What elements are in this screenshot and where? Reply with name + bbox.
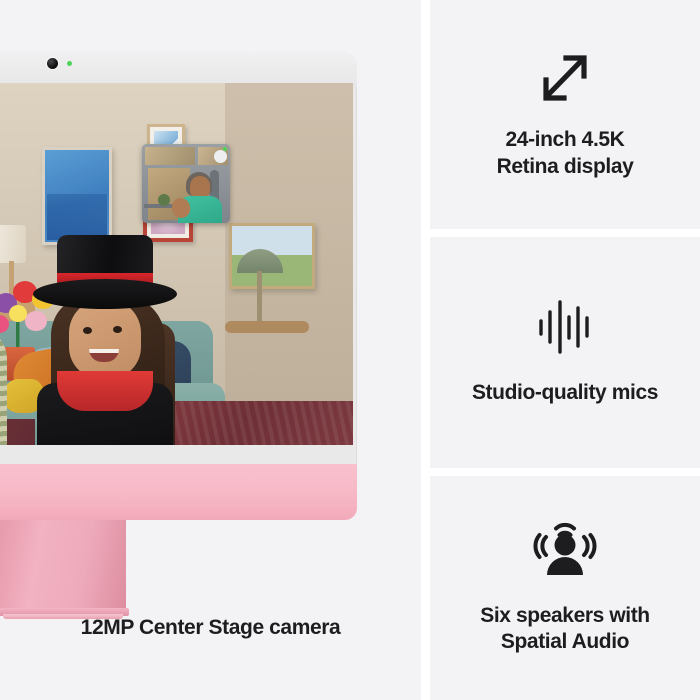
feature-card-mics[interactable]: Studio-quality mics — [430, 237, 700, 468]
imac-bezel — [0, 52, 357, 468]
scene-side-table — [225, 321, 309, 333]
imac-stand-neck — [0, 520, 126, 614]
pip-indicator-icon — [223, 147, 227, 151]
camera-lens-icon — [47, 58, 58, 69]
feature-card-mics-label: Studio-quality mics — [472, 380, 658, 406]
feature-card-display[interactable]: 24-inch 4.5K Retina display — [430, 0, 700, 229]
scene-girl-eye — [113, 326, 122, 333]
page-root: 12MP Center Stage camera 24-inch 4.5K Re… — [0, 0, 700, 700]
feature-card-speakers-label: Six speakers with Spatial Audio — [480, 603, 649, 656]
scene-floor-lamp-shade — [0, 225, 26, 263]
feature-label-line-2: Spatial Audio — [480, 629, 649, 655]
pip-wall-art — [145, 147, 195, 165]
feature-label-line-1: 24-inch 4.5K — [497, 127, 634, 153]
scene-wall-art-blue — [42, 147, 112, 245]
scene-flower — [9, 305, 27, 322]
expand-diagonal-arrows-icon — [535, 49, 595, 107]
pip-plant — [158, 194, 170, 206]
camera-feature-caption: 12MP Center Stage camera — [0, 614, 421, 641]
scene-girl-face — [69, 299, 141, 379]
scene-girl-top-hat-brim — [33, 279, 177, 309]
feature-card-display-label: 24-inch 4.5K Retina display — [497, 127, 634, 180]
facetime-scene — [0, 83, 353, 445]
feature-label-line-1: Studio-quality mics — [472, 380, 658, 406]
feature-card-speakers[interactable]: Six speakers with Spatial Audio — [430, 476, 700, 700]
imac-device — [0, 52, 357, 564]
scene-girl-eye — [83, 327, 92, 334]
pip-light — [214, 150, 227, 163]
scene-girl-collar — [57, 371, 153, 411]
camera-indicator-light-icon — [67, 61, 72, 66]
facetime-pip-window[interactable] — [142, 144, 230, 223]
imac-screen — [0, 83, 353, 445]
spatial-audio-person-icon — [532, 521, 598, 583]
scene-flower — [25, 311, 47, 331]
feature-label-line-2: Retina display — [497, 154, 634, 180]
imac-chin — [0, 464, 357, 520]
camera-feature-panel: 12MP Center Stage camera — [0, 0, 421, 700]
audio-waveform-icon — [535, 298, 595, 356]
scene-table-lamp-pole — [257, 271, 262, 323]
feature-label-line-1: Six speakers with — [480, 603, 649, 629]
